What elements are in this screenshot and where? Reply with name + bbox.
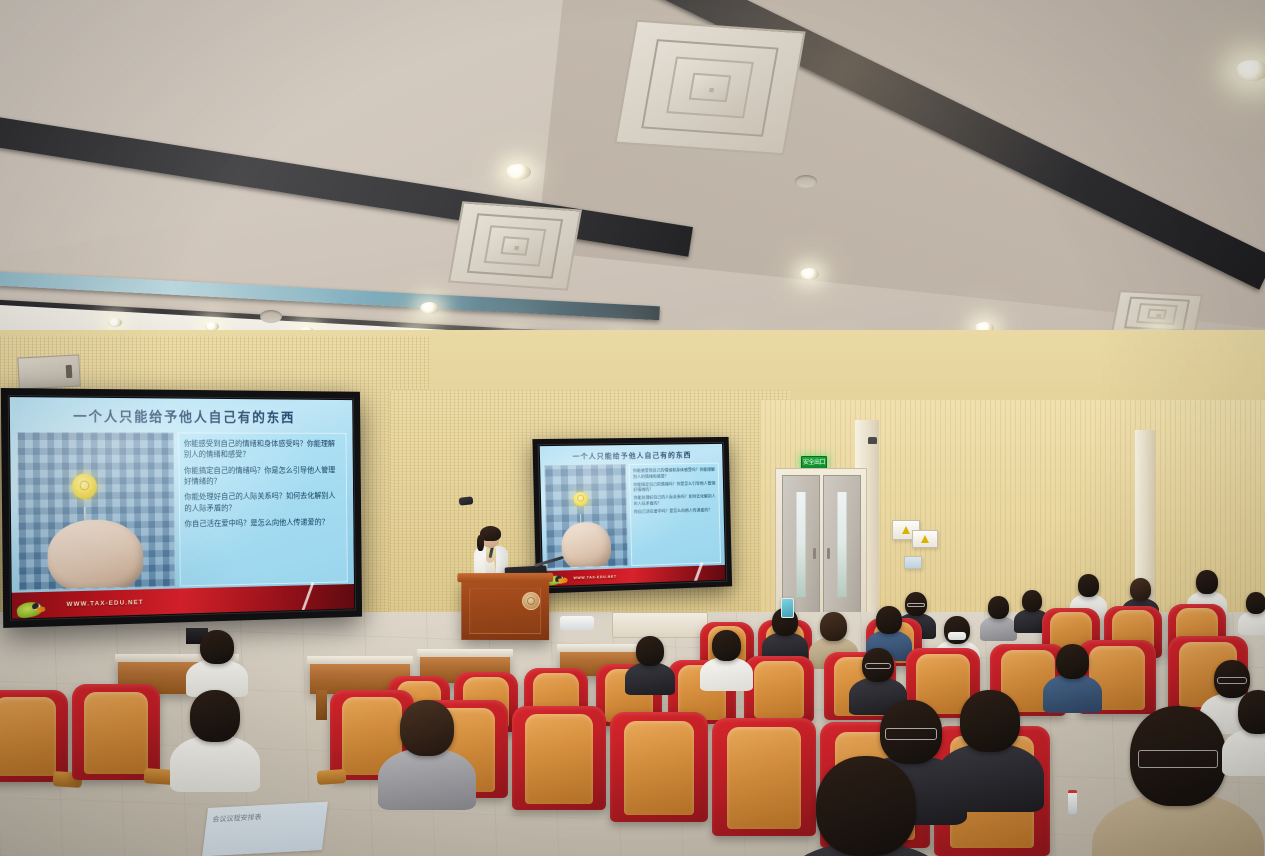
person-head	[636, 636, 664, 666]
audience-member	[1130, 578, 1151, 601]
audience-member	[190, 690, 240, 742]
audience-member	[712, 630, 741, 661]
audience-member	[1056, 644, 1089, 679]
auditorium-seat[interactable]	[72, 684, 160, 780]
person-head	[944, 616, 970, 644]
hvac-diffuser-icon	[614, 20, 805, 156]
person-head	[1056, 644, 1089, 679]
auditorium-seat[interactable]	[0, 690, 68, 782]
security-camera-icon	[868, 437, 877, 444]
audience-member	[1078, 574, 1099, 597]
person-head	[820, 612, 847, 641]
ceiling-downlight-icon	[420, 302, 439, 314]
slide-bullet: 你能感受到自己的情绪和身体感受吗？你能理解别人的情绪和感受？	[633, 467, 715, 480]
yellow-flower-icon	[573, 492, 587, 506]
warning-triangle-icon	[921, 535, 929, 543]
person-head	[1238, 690, 1265, 734]
person-shoulders	[170, 735, 260, 792]
door-leaf-right[interactable]	[823, 475, 861, 625]
ceiling-downlight-icon	[1235, 60, 1265, 81]
paper-on-floor: 会议议程安排表	[202, 802, 328, 856]
person-head	[190, 690, 240, 742]
door-glass-panel	[797, 492, 806, 597]
hand-shape	[561, 522, 611, 569]
person-shoulders	[936, 743, 1044, 811]
audience-member	[1196, 570, 1218, 594]
person-shoulders	[625, 662, 675, 695]
wall-control-panel[interactable]	[17, 354, 81, 389]
ceiling-downlight-icon	[800, 268, 819, 280]
person-head	[816, 756, 916, 856]
slide-body: 你能感受到自己的情绪和身体感受吗？你能理解别人的情绪和感受？ 你能搞定自己的情绪…	[540, 463, 725, 572]
secondary-display[interactable]: 一个人只能给予他人自己有的东西 你能感受到自己的情绪和身体感受吗？你能理解别人的…	[532, 437, 732, 594]
slide-title: 一个人只能给予他人自己有的东西	[10, 397, 353, 433]
audience-member	[988, 596, 1009, 619]
speaker-podium	[461, 578, 549, 640]
slide-photo	[17, 432, 175, 591]
audience-member	[400, 700, 454, 756]
desk-top-surface	[557, 644, 647, 652]
audience-member	[636, 636, 664, 666]
glasses-icon	[1217, 677, 1247, 684]
stage-table	[612, 612, 708, 638]
person-head	[862, 648, 894, 682]
audience-member	[905, 592, 927, 616]
glasses-icon	[1138, 750, 1219, 768]
auditorium-seat[interactable]	[744, 656, 814, 722]
audience-member	[960, 690, 1020, 752]
slide-content: 一个人只能给予他人自己有的东西 你能感受到自己的情绪和身体感受吗？你能理解别人的…	[540, 444, 726, 586]
person-head	[712, 630, 741, 661]
audience-member	[820, 612, 847, 641]
person-head	[1196, 570, 1218, 594]
audience-member-foreground	[816, 756, 916, 856]
audience-member	[862, 648, 894, 682]
seat-armrest	[316, 769, 345, 785]
person-head	[880, 700, 942, 764]
person-shoulders	[980, 616, 1018, 641]
seat-cushion	[754, 661, 804, 718]
podium-top-surface	[457, 573, 553, 582]
person-head	[1078, 574, 1099, 597]
audience-member	[1238, 690, 1265, 734]
mascot-icon	[16, 600, 44, 619]
auditorium-seat[interactable]	[712, 718, 816, 836]
audience-member	[200, 630, 234, 664]
slide-bullet: 你自己活在爱中吗？是怎么向他人传递爱的？	[184, 517, 342, 530]
person-head	[905, 592, 927, 616]
slide-bullet: 你能处理好自己的人际关系吗？如何去化解别人的人际矛盾的？	[184, 491, 342, 514]
exit-sign-label: 安全出口	[803, 460, 825, 466]
wall-info-placard	[904, 556, 922, 569]
wall-speaker-icon	[459, 496, 474, 505]
slide-content: 一个人只能给予他人自己有的东西 你能感受到自己的情绪和身体感受吗？你能理解别人的…	[10, 397, 354, 619]
ceiling-vent-icon	[260, 310, 282, 323]
desk-top-surface	[307, 656, 413, 664]
door-glass-panel	[838, 492, 847, 597]
slide-body: 你能感受到自己的情绪和身体感受吗？你能理解别人的情绪和感受？ 你能搞定自己的情绪…	[10, 432, 354, 593]
hvac-diffuser-icon	[448, 201, 582, 291]
desk-top-surface	[417, 649, 513, 657]
lecture-hall-scene: 安全出口 一个人只能给予他人自己有的东西 你能感	[0, 0, 1265, 856]
ceiling-downlight-icon	[505, 164, 531, 180]
slide-textbox: 你能感受到自己的情绪和身体感受吗？你能理解别人的情绪和感受？ 你能搞定自己的情绪…	[629, 463, 721, 566]
water-bottle-icon	[1068, 790, 1077, 814]
smartphone-icon[interactable]	[781, 598, 794, 618]
audience-member	[944, 616, 970, 644]
door-handle-icon[interactable]	[827, 548, 830, 559]
person-head	[200, 630, 234, 664]
person-head	[1130, 706, 1226, 806]
person-head	[876, 606, 902, 634]
audience-member	[876, 606, 902, 634]
glasses-icon	[885, 728, 937, 740]
door-handle-icon[interactable]	[813, 548, 816, 559]
audience-member-foreground	[1130, 706, 1226, 806]
person-head	[1022, 590, 1042, 612]
person-head	[988, 596, 1009, 619]
seat-cushion	[727, 727, 802, 828]
person-shoulders	[1043, 674, 1102, 713]
slide-textbox: 你能感受到自己的情绪和身体感受吗？你能理解别人的情绪和感受？ 你能搞定自己的情绪…	[178, 432, 348, 586]
person-shoulders	[378, 748, 475, 810]
yellow-flower-icon	[72, 473, 97, 499]
audience-member	[1246, 592, 1265, 614]
water-cups	[560, 616, 594, 630]
seat-cushion	[84, 692, 147, 775]
slide-bullet: 你能搞定自己的情绪吗？你是怎么引导他人管理好情绪的？	[184, 465, 342, 487]
audience-member	[880, 700, 942, 764]
slide-footer-url: WWW.TAX-EDU.NET	[66, 599, 143, 608]
audience-member	[1022, 590, 1042, 612]
panel-switch-icon[interactable]	[66, 365, 73, 378]
slide-bullet: 你自己活在爱中吗？是怎么向他人传递爱的？	[634, 507, 716, 515]
glasses-icon	[907, 603, 925, 607]
seat-cushion	[0, 697, 56, 776]
slide-photo	[544, 464, 628, 569]
person-head	[960, 690, 1020, 752]
person-head	[400, 700, 454, 756]
person-shoulders	[700, 657, 752, 691]
slide-bullet: 你能搞定自己的情绪吗？你是怎么引导他人管理好情绪的？	[633, 480, 715, 493]
slide-footer-url: WWW.TAX-EDU.NET	[573, 574, 616, 580]
slide-bullet: 你能感受到自己的情绪和身体感受吗？你能理解别人的情绪和感受？	[184, 438, 342, 460]
warning-triangle-icon	[902, 526, 910, 534]
paper-text: 会议议程安排表	[212, 810, 321, 826]
seat-cushion	[525, 714, 593, 803]
ceiling-downlight-icon	[108, 318, 122, 327]
glasses-icon	[865, 663, 892, 669]
main-projection-screen[interactable]: 一个人只能给予他人自己有的东西 你能感受到自己的情绪和身体感受吗？你能理解别人的…	[1, 388, 362, 628]
auditorium-seat[interactable]	[512, 706, 606, 810]
person-head	[1246, 592, 1265, 614]
wall-notice-sign	[912, 530, 938, 548]
institution-emblem-icon	[522, 592, 540, 610]
person-head	[1130, 578, 1151, 601]
hand-shape	[47, 519, 144, 590]
person-shoulders	[1238, 611, 1265, 635]
presenter-hair	[480, 526, 501, 541]
desk-leg	[316, 690, 327, 720]
auditorium-seat[interactable]	[610, 712, 708, 822]
seat-cushion	[624, 721, 695, 816]
ceiling-sensor-icon	[795, 175, 817, 188]
face-mask-icon	[948, 632, 967, 640]
slide-bullet: 你能处理好自己的人际关系吗？如何去化解别人的人际矛盾的？	[634, 494, 716, 507]
